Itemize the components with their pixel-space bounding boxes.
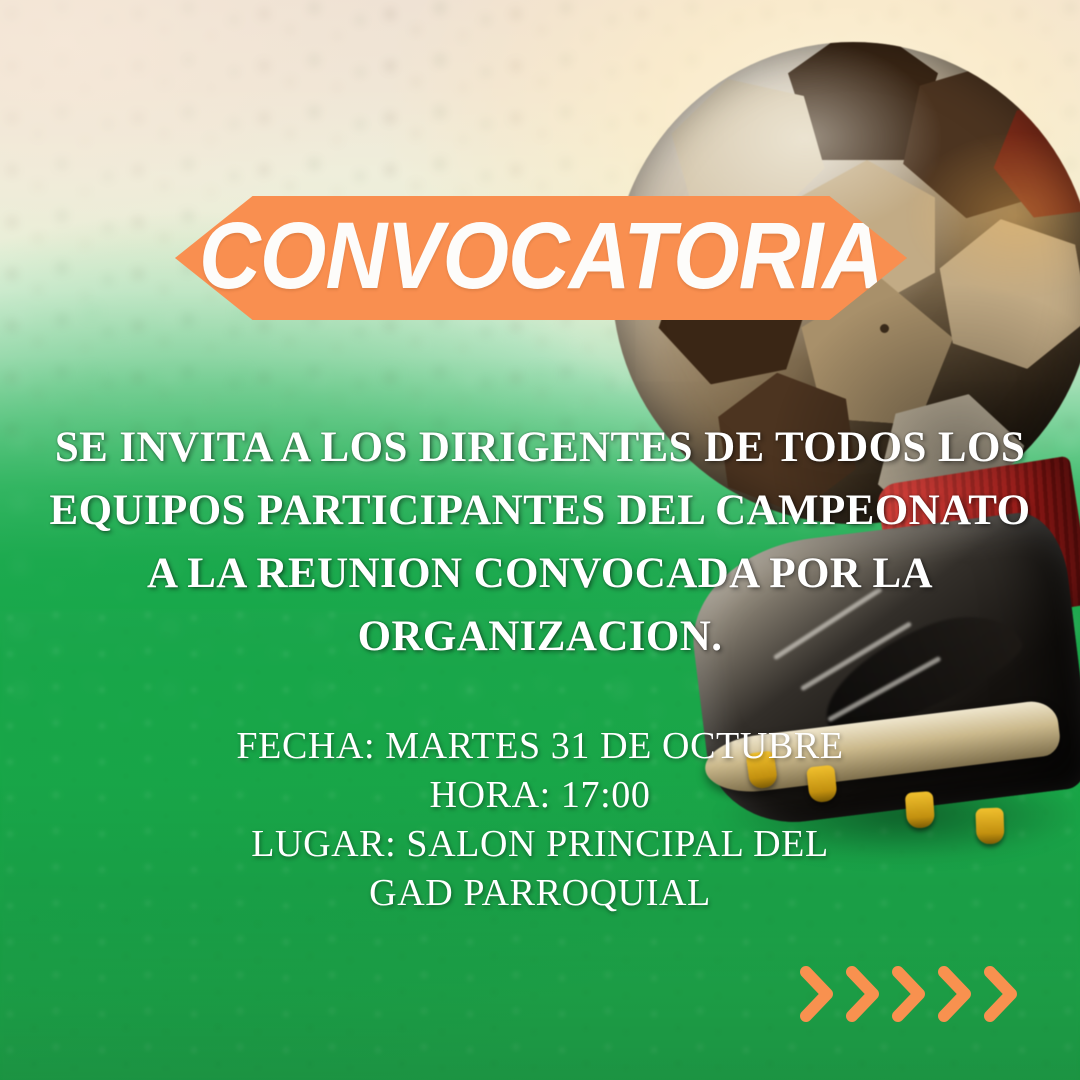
detail-line-hora: HORA: 17:00 <box>0 771 1080 820</box>
chevron-right-icon <box>888 964 930 1024</box>
chevron-right-icon <box>842 964 884 1024</box>
announcement-body: SE INVITA A LOS DIRIGENTES DE TODOS LOS … <box>0 416 1080 668</box>
chevron-right-icon <box>796 964 838 1024</box>
event-details: FECHA: MARTES 31 DE OCTUBRE HORA: 17:00 … <box>0 722 1080 918</box>
body-line: SE INVITA A LOS DIRIGENTES DE TODOS LOS <box>0 416 1080 479</box>
detail-line-lugar: LUGAR: SALON PRINCIPAL DEL <box>0 820 1080 869</box>
page-title: CONVOCATORIA <box>199 209 883 307</box>
poster-canvas: CONVOCATORIA SE INVITA A LOS DIRIGENTES … <box>0 0 1080 1080</box>
body-line: A LA REUNION CONVOCADA POR LA <box>0 542 1080 605</box>
chevron-decoration <box>796 958 1026 1030</box>
headline-banner: CONVOCATORIA <box>175 196 907 320</box>
body-line: ORGANIZACION. <box>0 605 1080 668</box>
detail-line-lugar-cont: GAD PARROQUIAL <box>0 869 1080 918</box>
detail-line-fecha: FECHA: MARTES 31 DE OCTUBRE <box>0 722 1080 771</box>
chevron-right-icon <box>934 964 976 1024</box>
body-line: EQUIPOS PARTICIPANTES DEL CAMPEONATO <box>0 479 1080 542</box>
chevron-right-icon <box>980 964 1022 1024</box>
